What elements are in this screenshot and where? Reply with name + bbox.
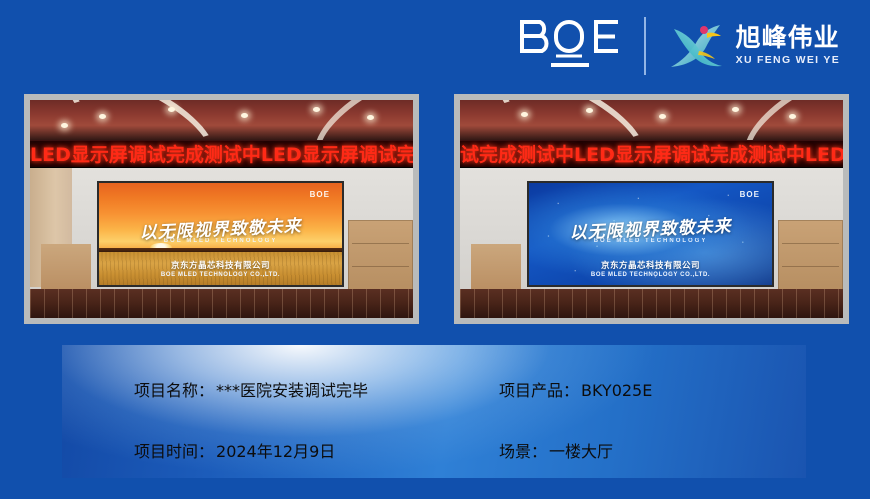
ceiling-light-icon	[313, 107, 320, 112]
screen-company-en: BOE MLED TECHNOLOGY CO.,LTD.	[99, 272, 342, 278]
ceiling	[460, 100, 843, 141]
ceiling-light-icon	[367, 115, 374, 120]
photo-gallery: LED显示屏调试完成测试中LED显示屏调试完成测试中LED显示屏调试完成测试中 …	[24, 94, 849, 324]
ceiling-light-icon	[732, 107, 739, 112]
ceiling-light-icon	[659, 114, 666, 119]
partner-logo: 旭峰伟业 XU FENG WEI YE	[668, 21, 840, 71]
project-time-label: 项目时间：	[134, 438, 214, 462]
info-row-project-time: 项目时间： 2024年12月9日	[134, 438, 499, 479]
scene-label: 场景：	[499, 438, 547, 462]
led-screen-right: BOE 以无限视界致敬未来 BOE MLED TECHNOLOGY 京东方晶芯科…	[527, 181, 774, 288]
screen-company-block: 京东方晶芯科技有限公司 BOE MLED TECHNOLOGY CO.,LTD.	[529, 259, 772, 278]
stacked-boxes	[471, 244, 521, 290]
ceiling-light-icon	[99, 114, 106, 119]
ceiling	[30, 100, 413, 141]
ceiling-light-icon	[789, 114, 796, 119]
project-product-value: BKY025E	[581, 381, 652, 400]
partner-text: 旭峰伟业 XU FENG WEI YE	[736, 25, 840, 67]
boe-logo	[518, 23, 622, 69]
info-row-project-name: 项目名称： ***医院安装调试完毕	[134, 377, 499, 418]
project-name-label: 项目名称：	[134, 377, 214, 401]
boe-underline-icon	[518, 61, 622, 69]
screen-company-cn: 京东方晶芯科技有限公司	[529, 259, 772, 271]
photo-frame-left: LED显示屏调试完成测试中LED显示屏调试完成测试中LED显示屏调试完成测试中 …	[24, 94, 419, 324]
screen-boe-logo: BOE	[310, 190, 330, 199]
photo-right: 试完成测试中LED显示屏调试完成测试中LED显示屏调试完成测试中LED显 BOE…	[460, 100, 843, 318]
screen-content-starfield: BOE 以无限视界致敬未来 BOE MLED TECHNOLOGY 京东方晶芯科…	[529, 183, 772, 286]
screen-company-block: 京东方晶芯科技有限公司 BOE MLED TECHNOLOGY CO.,LTD.	[99, 259, 342, 278]
poster-root: 旭峰伟业 XU FENG WEI YE LED显示屏	[0, 0, 870, 499]
stacked-boxes	[348, 220, 413, 290]
photo-left: LED显示屏调试完成测试中LED显示屏调试完成测试中LED显示屏调试完成测试中 …	[30, 100, 413, 318]
led-scrolling-banner-left: LED显示屏调试完成测试中LED显示屏调试完成测试中LED显示屏调试完成测试中	[30, 140, 413, 167]
scene-value: 一楼大厅	[549, 438, 613, 462]
partner-name-cn: 旭峰伟业	[736, 25, 840, 52]
boe-logo-letters	[518, 23, 622, 61]
ceiling-light-icon	[61, 123, 68, 128]
auditorium-seats	[460, 289, 843, 318]
project-time-value: 2024年12月9日	[216, 438, 335, 462]
project-name-value: ***医院安装调试完毕	[216, 377, 368, 401]
project-product-label: 项目产品：	[499, 377, 579, 401]
header-logo-bar: 旭峰伟业 XU FENG WEI YE	[518, 18, 840, 74]
ceiling-light-icon	[241, 113, 248, 118]
project-info-panel: 项目名称： ***医院安装调试完毕 项目产品： BKY025E 项目时间： 20…	[62, 345, 806, 478]
stacked-boxes	[41, 244, 91, 290]
screen-slogan-en: BOE MLED TECHNOLOGY	[529, 238, 772, 244]
screen-boe-logo: BOE	[740, 190, 760, 199]
led-scrolling-banner-right: 试完成测试中LED显示屏调试完成测试中LED显示屏调试完成测试中LED显	[460, 140, 843, 167]
partner-name-en: XU FENG WEI YE	[736, 54, 840, 67]
screen-company-en: BOE MLED TECHNOLOGY CO.,LTD.	[529, 272, 772, 278]
project-info-grid: 项目名称： ***医院安装调试完毕 项目产品： BKY025E 项目时间： 20…	[62, 345, 806, 478]
screen-slogan-en: BOE MLED TECHNOLOGY	[99, 238, 342, 244]
stacked-boxes	[778, 220, 843, 290]
screen-company-cn: 京东方晶芯科技有限公司	[99, 259, 342, 271]
auditorium-seats	[30, 289, 413, 318]
led-banner-text: 试完成测试中LED显示屏调试完成测试中LED显示屏调试完成测试中LED显	[460, 140, 843, 167]
photo-frame-right: 试完成测试中LED显示屏调试完成测试中LED显示屏调试完成测试中LED显 BOE…	[454, 94, 849, 324]
logo-divider	[644, 17, 646, 75]
boe-wordmark-icon	[518, 19, 622, 61]
info-row-project-product: 项目产品： BKY025E	[499, 377, 806, 418]
screen-content-sunset: BOE 以无限视界致敬未来 BOE MLED TECHNOLOGY 京东方晶芯科…	[99, 183, 342, 286]
led-banner-text: LED显示屏调试完成测试中LED显示屏调试完成测试中LED显示屏调试完成测试中	[30, 140, 413, 167]
info-row-scene: 场景： 一楼大厅	[499, 438, 806, 479]
led-screen-left: BOE 以无限视界致敬未来 BOE MLED TECHNOLOGY 京东方晶芯科…	[97, 181, 344, 288]
xufeng-bird-icon	[668, 21, 726, 71]
